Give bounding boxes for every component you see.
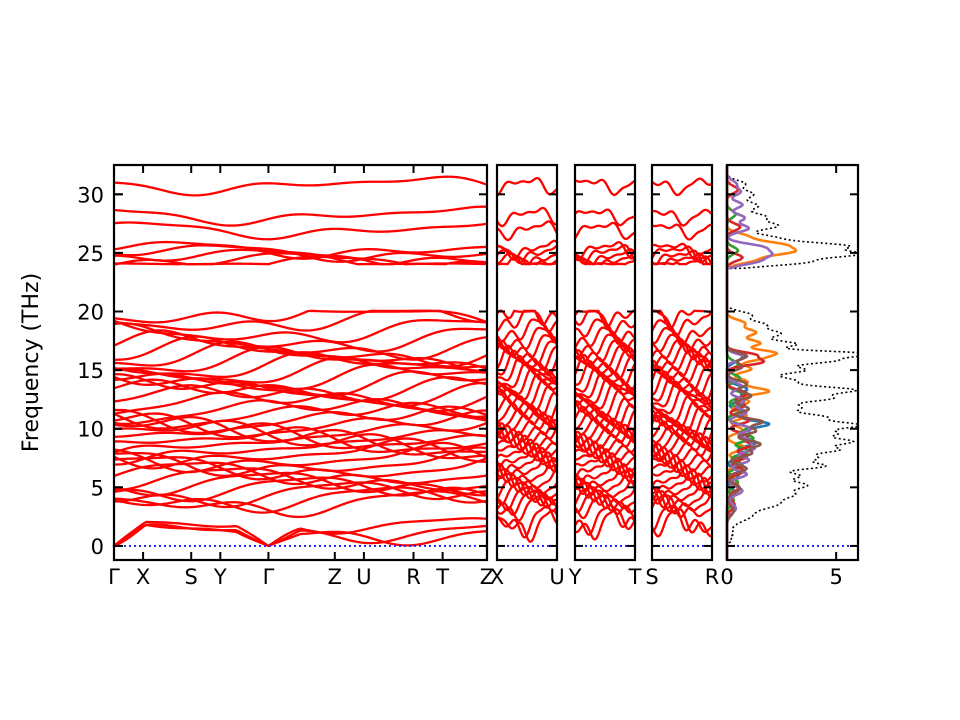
y-tick-label-0: 0 [91,535,104,559]
high-symmetry-label-U: U [549,565,564,589]
figure-canvas: 051015202530Frequency (THz)ΓXSYΓZURTZXUY… [0,0,960,720]
dos-x-tick-label-5: 5 [829,565,842,589]
high-symmetry-label-S: S [645,565,658,589]
y-tick-label-15: 15 [77,359,104,383]
high-symmetry-label-Y: Y [568,565,582,589]
high-symmetry-label-Γ: Γ [108,565,120,589]
y-tick-label-5: 5 [91,476,104,500]
figure-background [0,0,960,720]
high-symmetry-label-R: R [705,565,720,589]
y-tick-label-20: 20 [77,301,104,325]
y-tick-label-25: 25 [77,242,104,266]
y-axis-title: Frequency (THz) [19,273,44,452]
high-symmetry-label-T: T [628,565,642,589]
y-tick-label-30: 30 [77,183,104,207]
high-symmetry-label-Z: Z [328,565,342,589]
dos-x-tick-label-0: 0 [720,565,733,589]
high-symmetry-label-R: R [406,565,421,589]
high-symmetry-label-X: X [136,565,150,589]
high-symmetry-label-Y: Y [213,565,227,589]
high-symmetry-label-Γ: Γ [263,565,275,589]
phonon-figure: 051015202530Frequency (THz)ΓXSYΓZURTZXUY… [0,0,960,720]
high-symmetry-label-T: T [435,565,449,589]
high-symmetry-label-X: X [490,565,504,589]
high-symmetry-label-S: S [185,565,198,589]
high-symmetry-label-U: U [356,565,371,589]
y-tick-label-10: 10 [77,418,104,442]
